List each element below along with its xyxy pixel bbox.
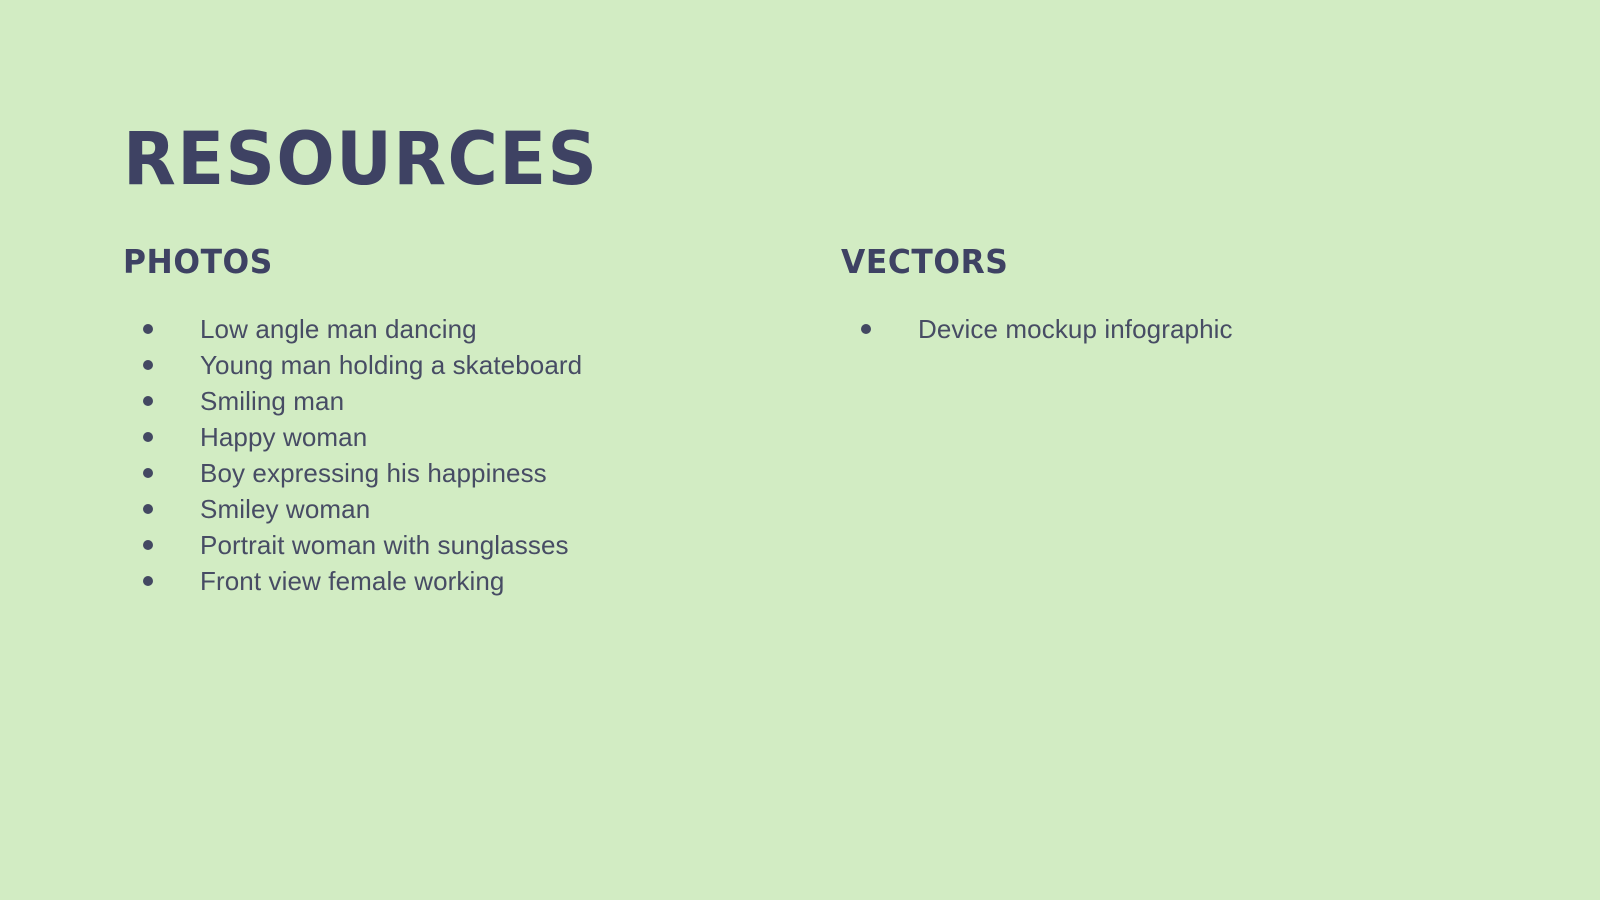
bullet-icon [143,540,153,550]
list-item[interactable]: Boy expressing his happiness [123,455,823,491]
list-item[interactable]: Happy woman [123,419,823,455]
list-item-label: Low angle man dancing [200,314,477,344]
list-item-label: Portrait woman with sunglasses [200,530,569,560]
list-item-label: Happy woman [200,422,367,452]
list-item[interactable]: Smiling man [123,383,823,419]
bullet-icon [143,324,153,334]
list-item[interactable]: Device mockup infographic [841,311,1541,347]
list-item[interactable]: Smiley woman [123,491,823,527]
page-title: RESOURCES [123,123,598,196]
list-item-label: Young man holding a skateboard [200,350,582,380]
list-item-label: Boy expressing his happiness [200,458,547,488]
section-heading-vectors: VECTORS [841,245,1506,278]
list-item-label: Smiley woman [200,494,370,524]
slide-root: RESOURCES PHOTOS Low angle man dancing Y… [0,0,1600,900]
list-item[interactable]: Front view female working [123,563,823,599]
list-item-label: Smiling man [200,386,344,416]
bullet-icon [143,396,153,406]
section-photos: PHOTOS Low angle man dancing Young man h… [123,245,823,599]
photos-list: Low angle man dancing Young man holding … [123,311,823,599]
list-item-label: Device mockup infographic [918,314,1233,344]
bullet-icon [143,576,153,586]
list-item[interactable]: Portrait woman with sunglasses [123,527,823,563]
section-vectors: VECTORS Device mockup infographic [841,245,1541,347]
bullet-icon [861,324,871,334]
section-heading-photos: PHOTOS [123,245,788,278]
bullet-icon [143,468,153,478]
list-item-label: Front view female working [200,566,505,596]
bullet-icon [143,432,153,442]
list-item[interactable]: Young man holding a skateboard [123,347,823,383]
bullet-icon [143,504,153,514]
vectors-list: Device mockup infographic [841,311,1541,347]
bullet-icon [143,360,153,370]
list-item[interactable]: Low angle man dancing [123,311,823,347]
